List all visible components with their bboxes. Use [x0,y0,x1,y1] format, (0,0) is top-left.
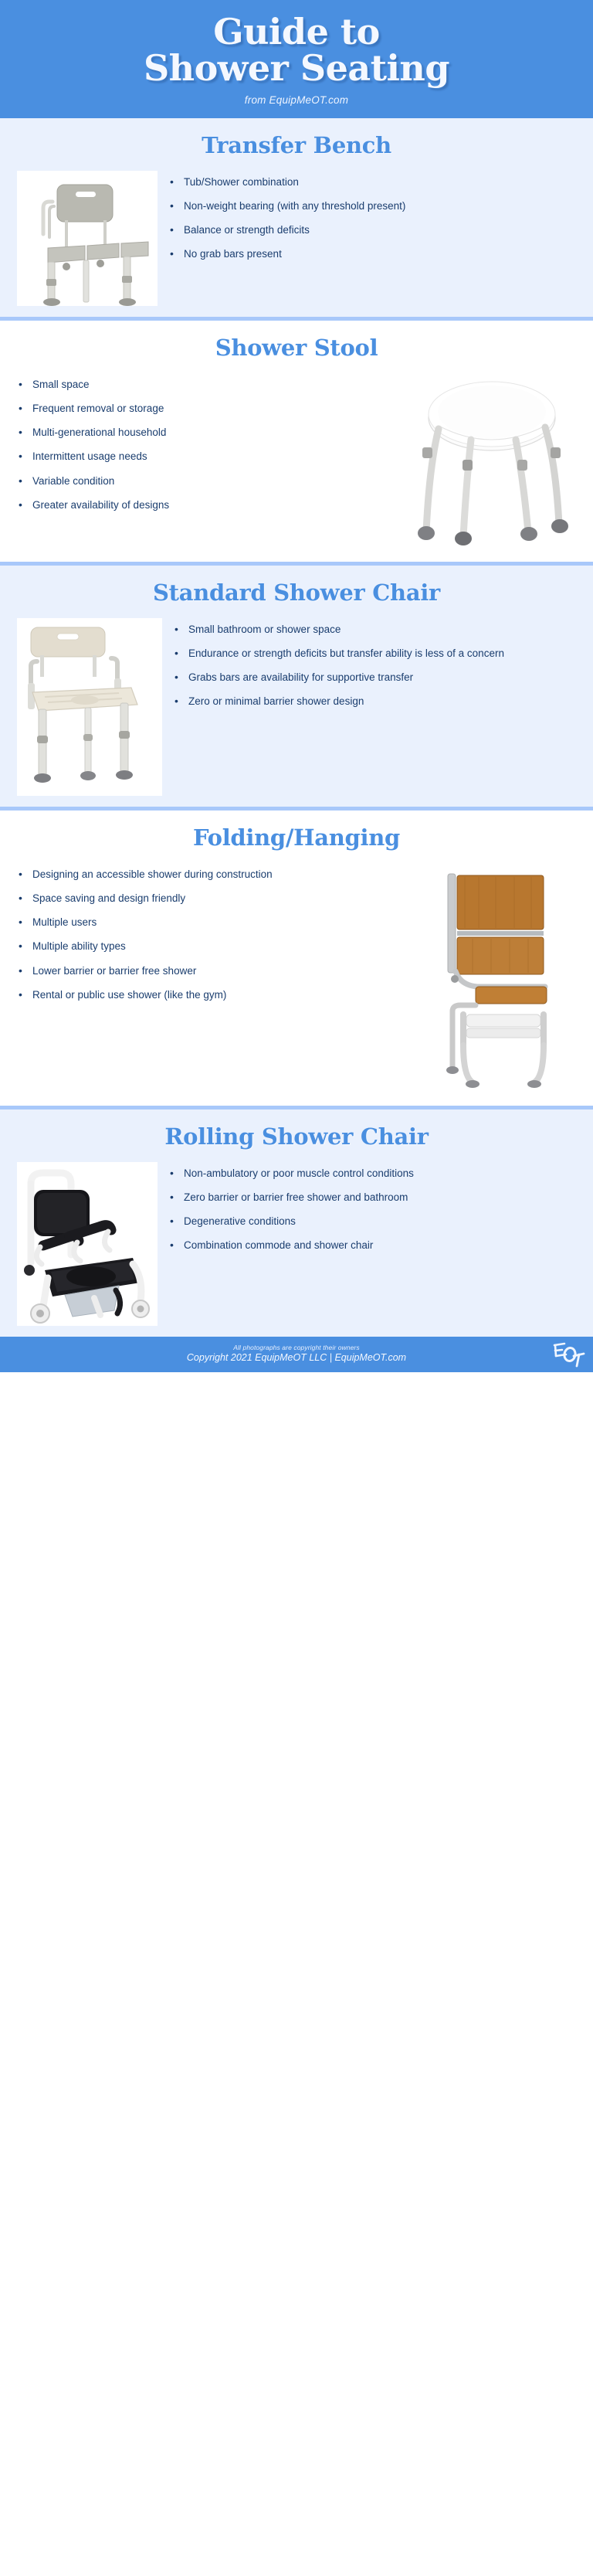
page-title-line-1: Guide to [213,11,380,53]
bullet-list: Small space Frequent removal or storage … [17,378,397,512]
standard-shower-chair-image-wrap [17,618,162,796]
list-item: Small bathroom or shower space [173,623,576,637]
list-item: Multiple ability types [17,940,418,953]
folding-seat-image-wrap [429,863,576,1095]
bullet-list: Tub/Shower combination Non-weight bearin… [168,175,576,262]
infographic-page: Guide to Shower Seating from EquipMeOT.c… [0,0,593,1372]
list-item: Lower barrier or barrier free shower [17,964,418,978]
list-item: Tub/Shower combination [168,175,576,189]
standard-shower-chair-photo [17,618,162,796]
list-item: Multi-generational household [17,426,397,440]
folding-seat-photo [429,863,576,1095]
section-standard-shower-chair: Standard Shower Chair [0,566,593,807]
eot-logo-icon [550,1341,585,1368]
standard-shower-chair-bullets: Small bathroom or shower space Endurance… [173,618,576,719]
rolling-shower-chair-photo [17,1162,158,1326]
page-title-line-2: Shower Seating [15,50,578,87]
list-item: Rental or public use shower (like the gy… [17,988,418,1002]
list-item: Designing an accessible shower during co… [17,868,418,882]
list-item: Frequent removal or storage [17,402,397,416]
section-shower-stool: Shower Stool [0,321,593,562]
section-rolling-shower-chair: Rolling Shower Chair [0,1110,593,1337]
footer-copyright: Copyright 2021 EquipMeOT LLC | EquipMeOT… [11,1352,582,1363]
section-transfer-bench: Transfer Bench [0,118,593,317]
list-item: Zero barrier or barrier free shower and … [168,1191,576,1205]
list-item: Grabs bars are availability for supporti… [173,671,576,685]
shower-stool-image-wrap [408,373,576,551]
section-title-folding-hanging: Folding/Hanging [0,824,593,851]
section-title-shower-stool: Shower Stool [0,335,593,361]
transfer-bench-bullets: Tub/Shower combination Non-weight bearin… [168,171,576,272]
rolling-shower-chair-bullets: Non-ambulatory or poor muscle control co… [168,1162,576,1263]
list-item: Small space [17,378,397,392]
list-item: Greater availability of designs [17,498,397,512]
page-title: Guide to Shower Seating [15,14,578,87]
list-item: Balance or strength deficits [168,223,576,237]
list-item: Intermittent usage needs [17,450,397,464]
bullet-list: Designing an accessible shower during co… [17,868,418,1002]
list-item: Non-ambulatory or poor muscle control co… [168,1167,576,1181]
shower-stool-bullets: Small space Frequent removal or storage … [17,373,397,522]
bullet-list: Non-ambulatory or poor muscle control co… [168,1167,576,1253]
list-item: Combination commode and shower chair [168,1239,576,1252]
rolling-shower-chair-image-wrap [17,1162,158,1326]
list-item: No grab bars present [168,247,576,261]
page-subtitle: from EquipMeOT.com [15,94,578,106]
list-item: Space saving and design friendly [17,892,418,906]
list-item: Endurance or strength deficits but trans… [173,647,576,661]
section-title-transfer-bench: Transfer Bench [0,132,593,158]
section-folding-hanging: Folding/Hanging [0,811,593,1106]
list-item: Zero or minimal barrier shower design [173,695,576,709]
list-item: Variable condition [17,474,397,488]
section-title-rolling-shower-chair: Rolling Shower Chair [0,1123,593,1150]
transfer-bench-photo [17,171,158,306]
list-item: Non-weight bearing (with any threshold p… [168,199,576,213]
section-title-standard-shower-chair: Standard Shower Chair [0,579,593,606]
page-footer: All photographs are copyright their owne… [0,1337,593,1372]
shower-stool-photo [408,373,576,551]
page-header: Guide to Shower Seating from EquipMeOT.c… [0,0,593,118]
folding-hanging-bullets: Designing an accessible shower during co… [17,863,418,1012]
bullet-list: Small bathroom or shower space Endurance… [173,623,576,709]
list-item: Multiple users [17,916,418,929]
footer-photo-credit: All photographs are copyright their owne… [11,1344,582,1351]
list-item: Degenerative conditions [168,1215,576,1229]
transfer-bench-image-wrap [17,171,158,306]
